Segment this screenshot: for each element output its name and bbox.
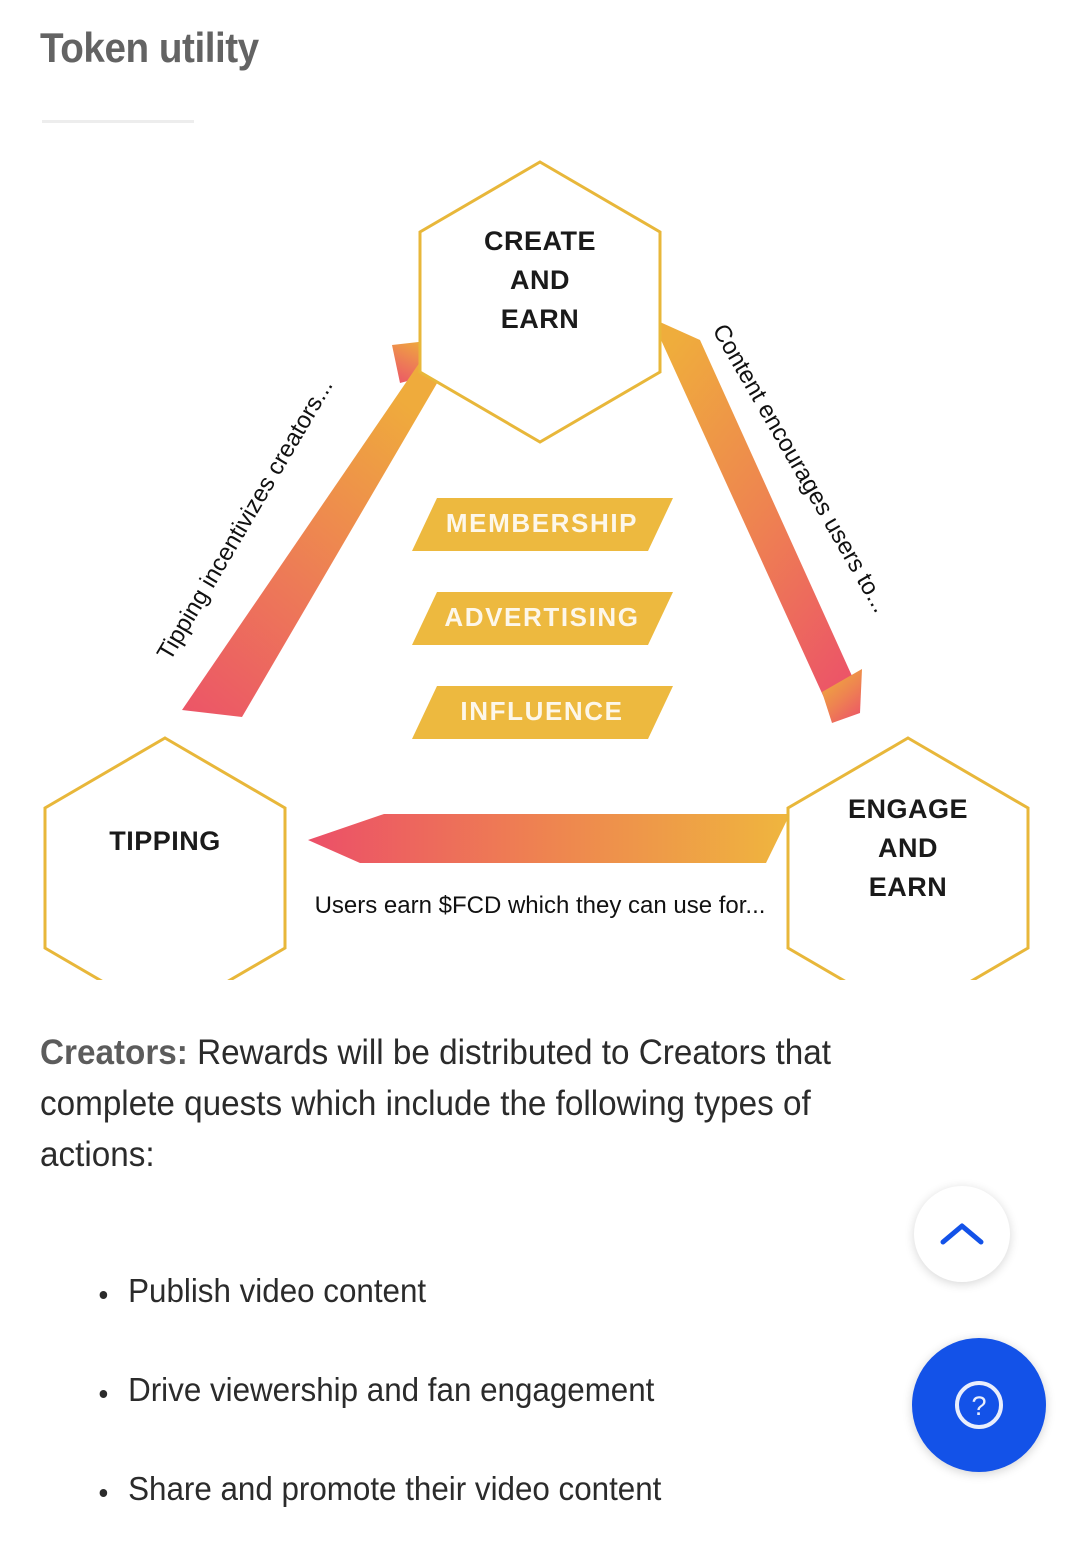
list-item: Publish video content bbox=[92, 1272, 947, 1310]
page-title: Token utility bbox=[40, 24, 259, 72]
band-advertising-label: ADVERTISING bbox=[444, 602, 639, 632]
hex-engage-line-3: EARN bbox=[869, 872, 948, 902]
band-membership-label: MEMBERSHIP bbox=[446, 508, 638, 538]
hex-create-line-1: CREATE bbox=[484, 226, 596, 256]
band-membership: MEMBERSHIP bbox=[412, 498, 673, 551]
creators-paragraph: Creators: Rewards will be distributed to… bbox=[40, 1028, 933, 1180]
svg-text:?: ? bbox=[971, 1391, 986, 1421]
hex-create-line-3: EARN bbox=[501, 304, 580, 334]
title-divider bbox=[42, 120, 194, 123]
band-advertising: ADVERTISING bbox=[412, 592, 673, 645]
chevron-up-icon bbox=[939, 1219, 985, 1249]
hex-tipping-label: TIPPING bbox=[109, 826, 221, 856]
scroll-to-top-button[interactable] bbox=[914, 1186, 1010, 1282]
question-mark-circle-icon: ? bbox=[950, 1376, 1008, 1434]
hex-create-line-2: AND bbox=[510, 265, 570, 295]
creator-actions-list: Publish video content Drive viewership a… bbox=[92, 1272, 947, 1547]
edge-label-bottom: Users earn $FCD which they can use for..… bbox=[315, 892, 766, 919]
token-utility-diagram: MEMBERSHIP ADVERTISING INFLUENCE CREATE … bbox=[0, 140, 1080, 980]
list-item: Drive viewership and fan engagement bbox=[92, 1371, 947, 1409]
creators-paragraph-lead: Creators: bbox=[40, 1033, 188, 1072]
hex-engage-and-earn[interactable]: ENGAGE AND EARN bbox=[788, 738, 1028, 980]
hex-engage-line-2: AND bbox=[878, 833, 938, 863]
hex-create-and-earn[interactable]: CREATE AND EARN bbox=[420, 162, 660, 442]
edge-arrow-bottom bbox=[308, 814, 790, 863]
help-button[interactable]: ? bbox=[912, 1338, 1046, 1472]
page-root: Token utility bbox=[0, 0, 1080, 1547]
list-item: Share and promote their video content bbox=[92, 1470, 947, 1508]
hex-tipping[interactable]: TIPPING bbox=[45, 738, 285, 980]
band-influence: INFLUENCE bbox=[412, 686, 673, 739]
hex-engage-line-1: ENGAGE bbox=[848, 794, 968, 824]
band-influence-label: INFLUENCE bbox=[460, 696, 623, 726]
